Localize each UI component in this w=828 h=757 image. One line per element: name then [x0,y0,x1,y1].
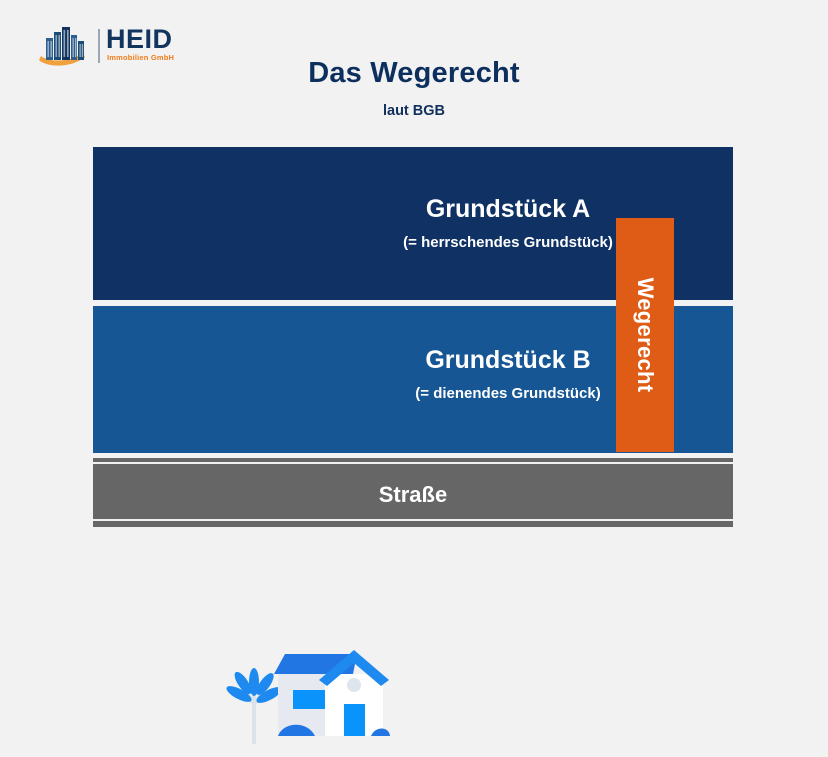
page-title: Das Wegerecht [0,57,828,90]
logo-company-name: HEID [106,26,173,53]
wegerecht-easement-bar: Wegerecht [616,218,674,452]
street-block: Straße [93,458,733,527]
street-marking-bottom [93,519,733,521]
wegerecht-label: Wegerecht [632,278,658,393]
page-subtitle: laut BGB [0,103,828,119]
bungalow-house-with-tree-icon [215,642,390,757]
street-label: Straße [93,482,733,508]
street-marking-top [93,462,733,464]
